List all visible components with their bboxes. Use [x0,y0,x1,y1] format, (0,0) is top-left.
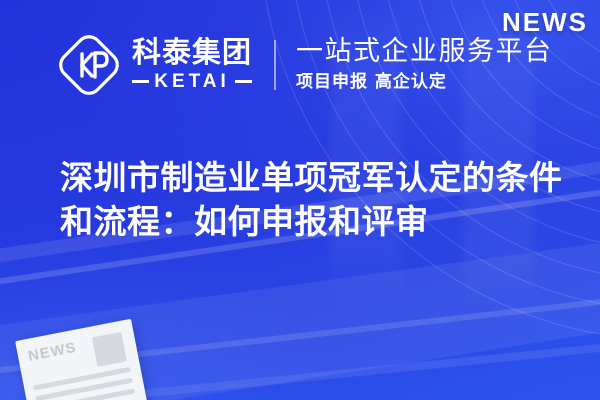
newspaper-image-block [92,332,127,367]
tagline-block: 一站式企业服务平台 项目申报 高企认定 [296,37,553,93]
ketai-logo-icon [58,34,120,96]
news-banner: 科泰集团 KETAI 一站式企业服务平台 项目申报 高企认定 NEWS 深圳市制… [0,0,600,400]
article-title: 深圳市制造业单项冠军认定的条件 和流程：如何申报和评审 [60,156,580,244]
brand-wordmark: 科泰集团 KETAI [132,39,252,91]
news-badge-label: NEWS [502,9,588,35]
brand-lockup: 科泰集团 KETAI [58,34,252,96]
brand-name-cn: 科泰集团 [132,39,252,69]
wordmark-dash-left [132,80,149,83]
wordmark-dash-right [235,80,252,83]
brand-name-en-row: KETAI [132,72,252,91]
brand-name-en: KETAI [154,72,230,91]
article-title-line-2: 和流程：如何申报和评审 [60,200,580,244]
header-divider [274,40,276,90]
tagline-sub: 项目申报 高企认定 [296,71,553,93]
tagline-main: 一站式企业服务平台 [296,37,553,67]
article-title-line-1: 深圳市制造业单项冠军认定的条件 [60,156,580,200]
